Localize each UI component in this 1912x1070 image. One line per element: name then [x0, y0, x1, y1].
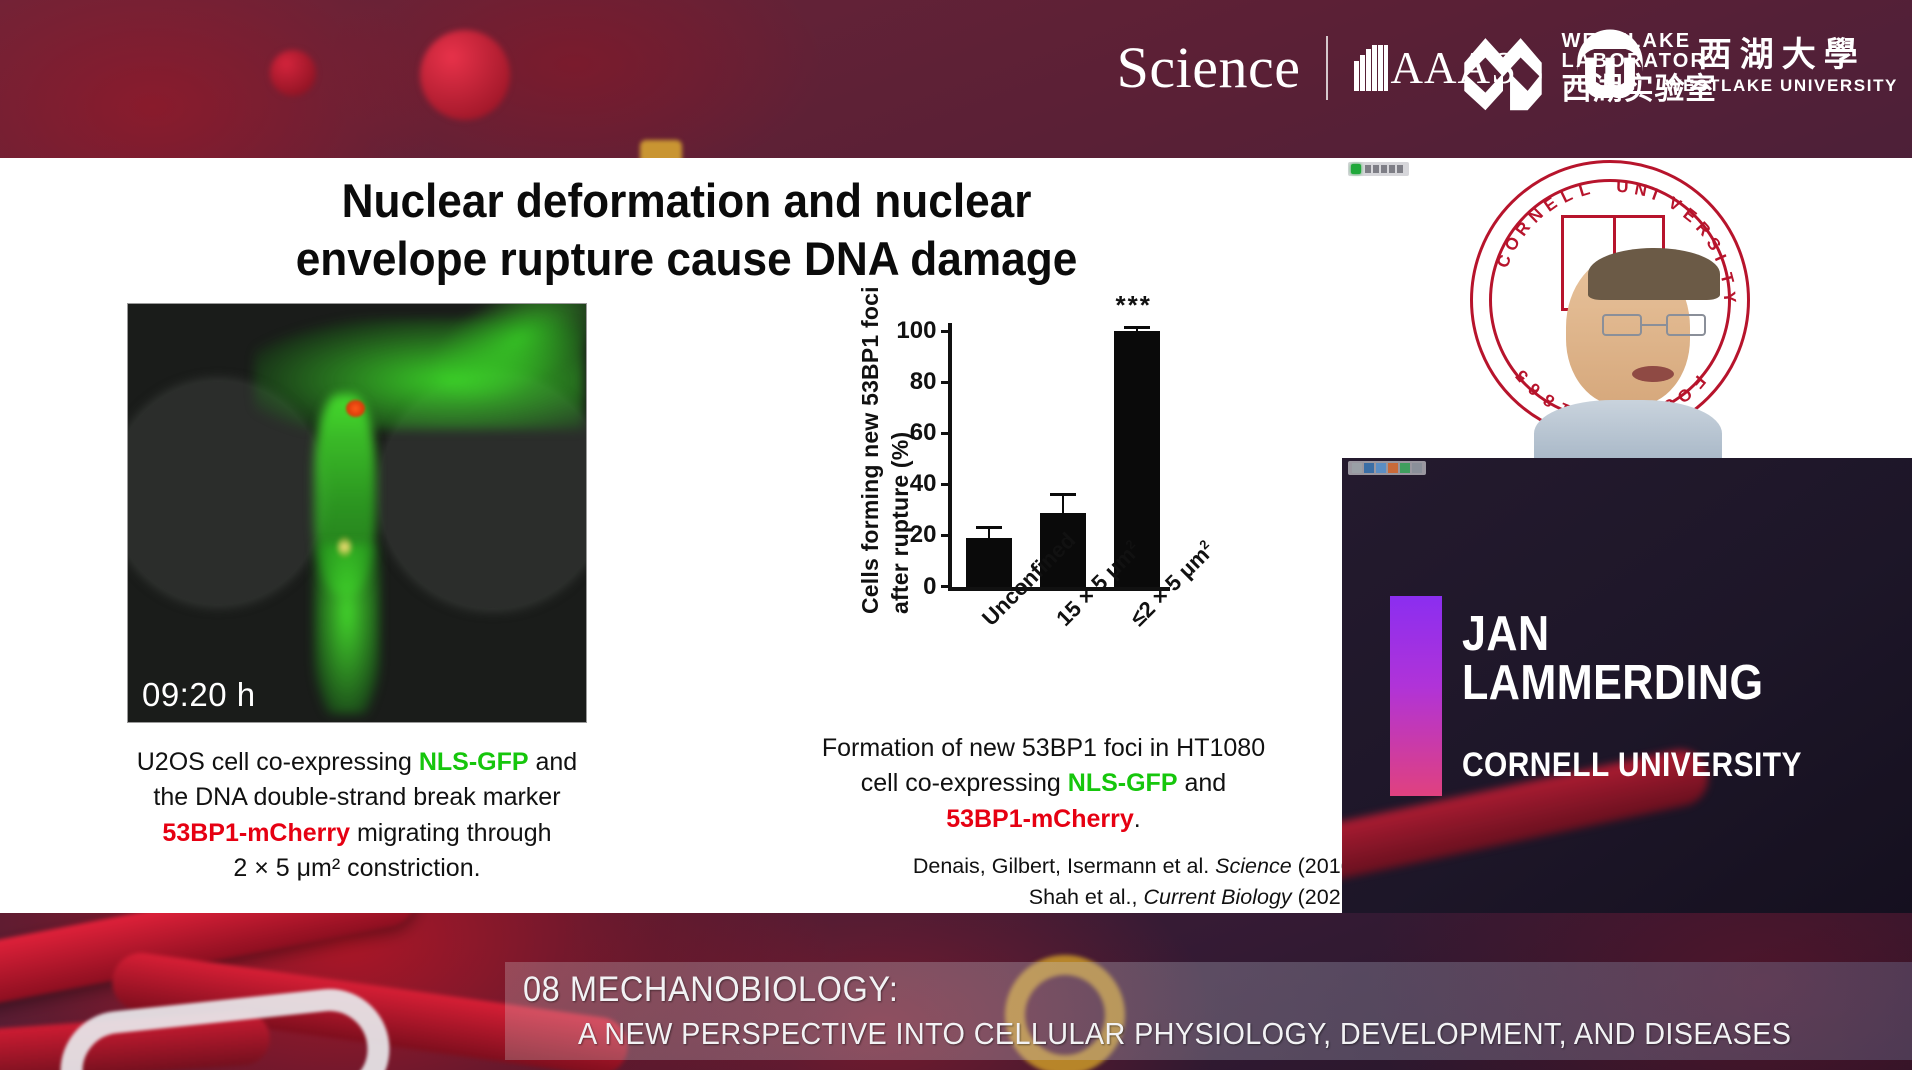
- slide-title-line2: envelope rupture cause DNA damage: [126, 230, 1247, 288]
- nls-gfp-label: NLS-GFP: [1068, 769, 1178, 797]
- glasses-icon: [1602, 314, 1706, 336]
- seal-letter: E: [1679, 204, 1700, 227]
- webcam-video-panel[interactable]: CORNELL UNIVERSITYFOUNDED 1865: [1342, 158, 1912, 458]
- left-caption-l3b: migrating through: [350, 819, 552, 847]
- citation: Shah et al., Current Biology (2021): [727, 882, 1360, 913]
- speaker-info: JAN LAMMERDING CORNELL UNIVERSITY: [1462, 610, 1912, 782]
- y-tick: [941, 585, 952, 588]
- mcherry-foci: [337, 536, 352, 558]
- y-tick: [941, 534, 952, 537]
- presentation-slide: Nuclear deformation and nuclear envelope…: [0, 158, 1373, 913]
- westlake-university-logo-icon: [1571, 28, 1649, 106]
- seal-letter: I: [1649, 185, 1660, 205]
- chart-y-axis-label: Cells forming new 53BP1 foci after ruptu…: [832, 309, 888, 639]
- y-tick: [941, 432, 952, 435]
- right-caption: Formation of new 53BP1 foci in HT1080 ce…: [740, 731, 1346, 838]
- y-tick-label: 20: [910, 521, 937, 549]
- bar: [966, 538, 1012, 586]
- left-caption-l1a: U2OS cell co-expressing: [137, 748, 419, 776]
- citation-journal: Current Biology: [1143, 885, 1291, 909]
- speaker-head: [1566, 254, 1690, 406]
- significance-annotation: ***: [1115, 290, 1151, 321]
- citation-authors: Shah et al.,: [1029, 885, 1144, 909]
- y-tick-label: 60: [910, 419, 937, 447]
- right-panel: Cells forming new 53BP1 foci after ruptu…: [714, 303, 1373, 913]
- taskbar-indicator[interactable]: [1348, 461, 1426, 475]
- seal-letter: C: [1493, 252, 1516, 270]
- error-bar-cap: [976, 526, 1002, 529]
- seal-letter: R: [1691, 218, 1714, 241]
- slide-title-line1: Nuclear deformation and nuclear: [126, 172, 1247, 230]
- speaker-mouth: [1632, 366, 1674, 382]
- speaker-shirt: [1534, 400, 1722, 458]
- westlake-univ-english: WESTLAKE UNIVERSITY: [1665, 76, 1898, 96]
- session-title-banner: 08 MECHANOBIOLOGY: A NEW PERSPECTIVE INT…: [505, 962, 1912, 1060]
- westlake-laboratory-logo-icon: [1459, 24, 1547, 112]
- status-bars-icon: [1365, 165, 1403, 173]
- seal-letter: E: [1540, 194, 1561, 217]
- left-caption-l1b: and: [529, 748, 578, 776]
- error-bar: [988, 529, 990, 538]
- citation-journal: Science: [1215, 854, 1292, 878]
- seal-letter: 5: [1512, 365, 1533, 385]
- seal-letter: V: [1665, 193, 1685, 216]
- left-caption-l2: the DNA double-strand break marker: [29, 780, 686, 816]
- gfp-signal: [254, 318, 584, 430]
- slide-title: Nuclear deformation and nuclear envelope…: [41, 158, 1332, 289]
- seal-letter: U: [1616, 177, 1629, 197]
- error-bar-cap: [1124, 326, 1150, 329]
- right-caption-l3b: .: [1134, 805, 1141, 833]
- seal-letter: S: [1702, 234, 1725, 254]
- westlake-univ-chinese: 西湖大學: [1665, 38, 1898, 72]
- y-tick: [941, 330, 952, 333]
- mcherry-foci: [346, 400, 365, 417]
- speaker-name: JAN LAMMERDING: [1462, 610, 1858, 708]
- westlake-university-text: 西湖大學 WESTLAKE UNIVERSITY: [1665, 38, 1898, 96]
- session-title-line1: 08 MECHANOBIOLOGY:: [523, 970, 1815, 1010]
- slide-content-panels: 09:20 h U2OS cell co-expressing NLS-GFP …: [0, 303, 1373, 913]
- citation-authors: Denais, Gilbert, Isermann et al.: [913, 854, 1215, 878]
- right-caption-l2a: cell co-expressing: [861, 769, 1068, 797]
- error-bar: [1136, 329, 1138, 331]
- westlake-university-logo: 西湖大學 WESTLAKE UNIVERSITY: [1571, 28, 1898, 106]
- speaker-hair: [1588, 248, 1720, 300]
- science-wordmark: Science: [1117, 39, 1301, 97]
- seal-letter: O: [1501, 234, 1525, 255]
- right-caption-l2b: and: [1178, 769, 1227, 797]
- accent-bar: [1390, 596, 1442, 796]
- seal-letter: Y: [1718, 291, 1739, 304]
- recording-indicator[interactable]: [1348, 162, 1409, 176]
- session-title-line2: A NEW PERSPECTIVE INTO CELLULAR PHYSIOLO…: [578, 1016, 1819, 1052]
- y-tick-label: 40: [910, 470, 937, 498]
- aaas-logo-icon: [1354, 45, 1388, 91]
- nls-gfp-label: NLS-GFP: [419, 748, 529, 776]
- left-caption: U2OS cell co-expressing NLS-GFP and the …: [29, 745, 686, 887]
- speaker-lower-third-panel: JAN LAMMERDING CORNELL UNIVERSITY: [1342, 458, 1912, 913]
- y-tick-label: 100: [896, 317, 936, 345]
- y-tick: [941, 381, 952, 384]
- error-bar: [1062, 496, 1064, 513]
- y-tick-label: 0: [923, 573, 936, 601]
- gfp-signal: [314, 544, 380, 714]
- y-tick-label: 80: [910, 368, 937, 396]
- left-panel: 09:20 h U2OS cell co-expressing NLS-GFP …: [0, 303, 714, 913]
- error-bar-cap: [1050, 493, 1076, 496]
- right-caption-l1: Formation of new 53BP1 foci in HT1080: [740, 731, 1346, 767]
- header-bar: Science AAAS WESTLAKE: [0, 0, 1912, 158]
- bar-chart: Cells forming new 53BP1 foci after ruptu…: [828, 309, 1258, 709]
- presentation-stage: Science AAAS WESTLAKE: [0, 0, 1912, 1070]
- mcherry-label: 53BP1-mCherry: [946, 805, 1134, 833]
- seal-letter: L: [1577, 179, 1593, 201]
- seal-letter: N: [1525, 204, 1548, 227]
- y-tick: [941, 483, 952, 486]
- citation: Denais, Gilbert, Isermann et al. Science…: [727, 851, 1360, 882]
- green-status-dot-icon: [1351, 164, 1361, 174]
- timestamp-overlay: 09:20 h: [142, 676, 256, 714]
- speaker-organization: CORNELL UNIVERSITY: [1462, 748, 1858, 782]
- science-aaas-logo: Science AAAS: [1117, 36, 1517, 100]
- left-caption-l4: 2 × 5 μm² constriction.: [29, 851, 686, 887]
- speaker-video-figure: [1540, 254, 1716, 458]
- seal-letter: L: [1558, 185, 1576, 208]
- y-axis-label-line1: Cells forming new 53BP1 foci: [857, 286, 884, 614]
- mcherry-label: 53BP1-mCherry: [162, 819, 350, 847]
- logo-divider: [1326, 36, 1328, 100]
- citation-list: Denais, Gilbert, Isermann et al. Science…: [727, 851, 1360, 913]
- seal-letter: N: [1633, 179, 1649, 201]
- microscopy-timelapse-frame: 09:20 h: [127, 303, 587, 723]
- chart-x-tick-labels: Unconfined15 × 5 μm2≤2 × 5 μm2: [946, 601, 1246, 711]
